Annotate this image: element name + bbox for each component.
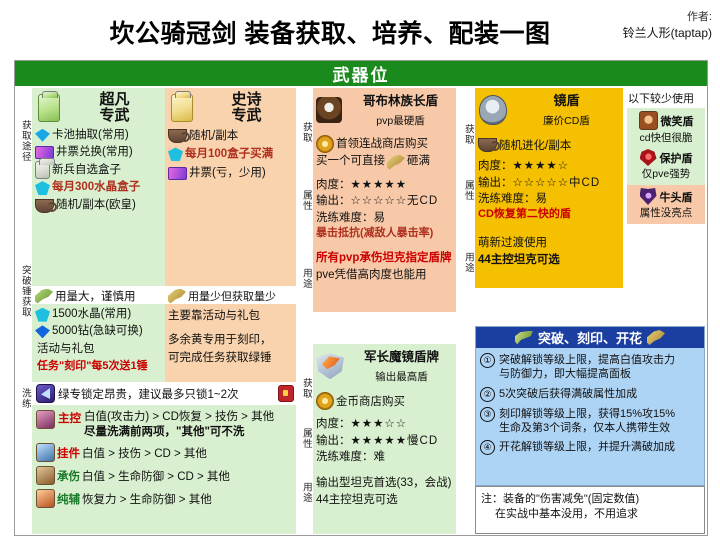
goblin-use-2: pve凭借高肉度也能用 [316, 267, 456, 283]
side-label-refine: 洗练 [17, 388, 32, 413]
stat-row: 输出：★★★★★慢CD [316, 433, 456, 449]
list-item: 井票(亏，少用) [168, 164, 296, 183]
panel-shishi-weapon: 史诗 专武 随机/副本 每月100盒子买满 井票(亏，少用) [165, 88, 296, 286]
gem-icon [35, 325, 50, 338]
list-item: 可完成任务获取绿锤 [168, 350, 296, 368]
author-block: 作者: 铃兰人形(taptap) [623, 10, 712, 41]
stat-row: 输出：☆☆☆☆☆中CD [478, 175, 623, 191]
side-label-junzhang-acquire: 获取 [298, 378, 313, 403]
list-item: 随机/副本 [168, 127, 296, 146]
goblin-acquire-row2: 买一个可直接 砸满 [316, 154, 456, 170]
refine-row-pendant: 挂件 白值 > 技伤 > CD > 其他 [36, 443, 296, 462]
side-label-jingdun-use: 用途 [460, 252, 475, 277]
panel-jingdun-shield: 镜盾 廉价CD盾 随机进化/副本 肉度：★★★★☆ 输出：☆☆☆☆☆中CD 洗练… [475, 88, 623, 288]
hammer-icon [647, 330, 665, 345]
list-item: ③ 刻印解锁等级上限，获得15%攻15% 生命及第3个词条，仅本人携带生效 [480, 407, 700, 436]
note-line-1: 注：装备的"伤害减免"(固定数值) [481, 492, 700, 507]
page-header: 坎公骑冠剑 装备获取、培养、配装一图 作者: 铃兰人形(taptap) [0, 0, 720, 62]
refine-lock-note-row: 绿专锁定昂贵，建议最多只锁1~2次 [32, 382, 296, 405]
chaofan-title-1: 超凡 [99, 91, 129, 108]
shishi-title-2: 专武 [231, 107, 261, 124]
panel-goblin-shield: 哥布林族长盾 pvp最硬盾 首领连战商店购买 买一个可直接 砸满 肉度：★★★★… [313, 88, 456, 312]
panel-chaofan-weapon: 超凡 专武 卡池抽取(常用) 井票兑换(常用) 新兵自选盒子 每月300水晶盒子… [32, 88, 165, 286]
list-item: ④ 开花解锁等级上限，并提升满破加成 [480, 440, 700, 455]
hammer-icon [168, 289, 186, 304]
jingdun-use-2: 44主控坦克可选 [478, 252, 623, 269]
cup-icon [478, 138, 497, 152]
stat-row: 肉度：★★★☆☆ [316, 416, 456, 432]
list-item: ② 5次突破后获得满破属性加成 [480, 387, 700, 402]
stat-highlight: CD恢复第二快的盾 [478, 207, 623, 223]
list-item: 每月300水晶盒子 [35, 179, 165, 196]
mirror-shield-icon [479, 95, 507, 125]
goblin-use-1: 所有pvp承伤坦克指定盾牌 [316, 250, 456, 266]
junzhang-use-2: 44主控坦克可选 [316, 492, 456, 508]
list-item: 牛头盾 [627, 188, 705, 205]
stat-row: 洗练难度：易 [316, 210, 456, 226]
avatar [36, 466, 55, 485]
infographic-page: 坎公骑冠剑 装备获取、培养、配装一图 作者: 铃兰人形(taptap) 武器位 … [0, 0, 720, 544]
list-item: 活动与礼包 [35, 341, 165, 358]
side-label-goblin-stats: 属性 [298, 190, 313, 215]
shishi-title-1: 史诗 [231, 91, 261, 108]
less-used-desc: 仅pve强势 [627, 166, 705, 181]
knot-icon [35, 308, 50, 322]
lock-icon [278, 385, 294, 402]
side-label-goblin-acquire: 获取 [298, 122, 313, 147]
author-name: 铃兰人形(taptap) [623, 25, 712, 41]
stat-row: 洗练难度：难 [316, 449, 456, 465]
weapon-box-icon [171, 94, 193, 122]
refine-row-main: 主控 白值(攻击力) > CD恢复 > 技伤 > 其他 尽量洗满前两项，"其他"… [36, 410, 296, 439]
breakthrough-header: 突破、刻印、开花 [476, 327, 704, 348]
chaofan-title-2: 专武 [99, 107, 129, 124]
cup-icon [35, 199, 54, 213]
list-item: 多余黄专用于刻印， [168, 332, 296, 350]
page-title: 坎公骑冠剑 装备获取、培养、配装一图 [0, 14, 660, 50]
side-label-jingdun-stats: 属性 [460, 180, 475, 205]
box-icon [35, 161, 50, 179]
weapon-box-icon [38, 94, 60, 122]
author-label: 作者: [623, 10, 712, 25]
stat-highlight: 暴击抵抗(减敌人暴击率) [316, 226, 456, 242]
refine-row-tank: 承伤 白值 > 生命防御 > CD > 其他 [36, 466, 296, 485]
panel-shishi-hammer: 用量少但获取量少 主要靠活动与礼包 多余黄专用于刻印， 可完成任务获取绿锤 [165, 286, 296, 382]
avatar [36, 410, 55, 429]
list-item: 卡池抽取(常用) [35, 127, 165, 144]
list-item: ① 突破解锁等级上限，提高白值攻击力 与防御力，即大幅提高面板 [480, 353, 700, 382]
panel-refine: 绿专锁定昂贵，建议最多只锁1~2次 主控 白值(攻击力) > CD恢复 > 技伤… [32, 382, 296, 534]
seal-icon [36, 384, 55, 403]
list-item: 主要靠活动与礼包 [168, 308, 296, 326]
hammer-warning-row: 用量少但获取量少 [165, 286, 296, 304]
ticket-icon [168, 167, 187, 180]
stat-row: 肉度：★★★★★ [316, 177, 456, 193]
coin-icon [316, 392, 334, 410]
stat-row: 肉度：★★★★☆ [478, 158, 623, 174]
junzhang-use-1: 输出型坦克首选(33，会战) [316, 475, 456, 491]
medal-icon [316, 135, 334, 153]
list-item: 1500水晶(常用) [35, 306, 165, 323]
panel-note: 注：装备的"伤害减免"(固定数值) 在实战中基本没用，不用追求 [475, 486, 705, 534]
list-item: 新兵自选盒子 [35, 161, 165, 179]
less-used-header: 以下较少使用 [627, 88, 705, 108]
knot-icon [35, 181, 50, 195]
jingdun-acquire-row: 随机进化/副本 [475, 129, 623, 153]
hammer-icon [35, 289, 53, 304]
panel-junzhang-shield: 军长魔镜盾牌 输出最高盾 金币商店购买 肉度：★★★☆☆ 输出：★★★★★慢CD… [313, 344, 456, 534]
jingdun-use-1: 萌新过渡使用 [478, 235, 623, 252]
side-label-junzhang-use: 用途 [298, 482, 313, 507]
bull-shield-icon [640, 188, 657, 205]
side-label-hammer-acquire: 突破锤获取 [17, 265, 32, 321]
refine-row-support: 纯辅 恢复力 > 生命防御 > 其他 [36, 489, 296, 508]
side-label-acquire-route: 获取途径 [17, 120, 32, 166]
list-item: 微笑盾 [627, 111, 705, 130]
protect-shield-icon [640, 149, 657, 166]
avatar [36, 443, 55, 462]
hammer-warning-row: 用量大，谨慎用 [32, 286, 165, 304]
avatar [36, 489, 55, 508]
gem-icon [35, 129, 50, 142]
list-item: 任务"刻印"每5次送1锤 [35, 358, 165, 375]
hammer-icon [387, 155, 405, 170]
smile-shield-icon [639, 111, 658, 130]
less-used-desc: cd快但很脆 [627, 130, 705, 145]
ticket-icon [35, 146, 54, 159]
panel-breakthrough: 突破、刻印、开花 ① 突破解锁等级上限，提高白值攻击力 与防御力，即大幅提高面板… [475, 326, 705, 486]
section-banner-weapon: 武器位 [15, 61, 707, 86]
panel-chaofan-hammer: 用量大，谨慎用 1500水晶(常用) 5000钻(急缺可换) 活动与礼包 任务"… [32, 286, 165, 382]
panel-less-used: 以下较少使用 微笑盾 cd快但很脆 保护盾 仅pve强势 牛头盾 属性没亮点 [627, 88, 705, 266]
stat-row: 输出：☆☆☆☆☆无CD [316, 193, 456, 209]
list-item: 每月100盒子买满 [168, 145, 296, 164]
junzhang-shield-icon [316, 353, 344, 379]
less-used-desc: 属性没亮点 [627, 205, 705, 220]
side-label-jingdun-acquire: 获取 [460, 124, 475, 149]
stat-row: 洗练难度：易 [478, 191, 623, 207]
goblin-acquire-row: 首领连战商店购买 [316, 135, 456, 153]
side-label-goblin-use: 用途 [298, 268, 313, 293]
goblin-shield-icon [316, 97, 342, 123]
list-item: 随机/副本(欧皇) [35, 197, 165, 214]
note-line-2: 在实战中基本没用，不用追求 [481, 507, 700, 522]
cup-icon [168, 129, 187, 143]
wrench-icon [515, 331, 533, 345]
list-item: 5000钻(急缺可换) [35, 323, 165, 340]
list-item: 保护盾 [627, 149, 705, 166]
knot-icon [168, 147, 183, 161]
side-label-junzhang-stats: 属性 [298, 428, 313, 453]
junzhang-acquire-row: 金币商店购买 [313, 385, 456, 410]
